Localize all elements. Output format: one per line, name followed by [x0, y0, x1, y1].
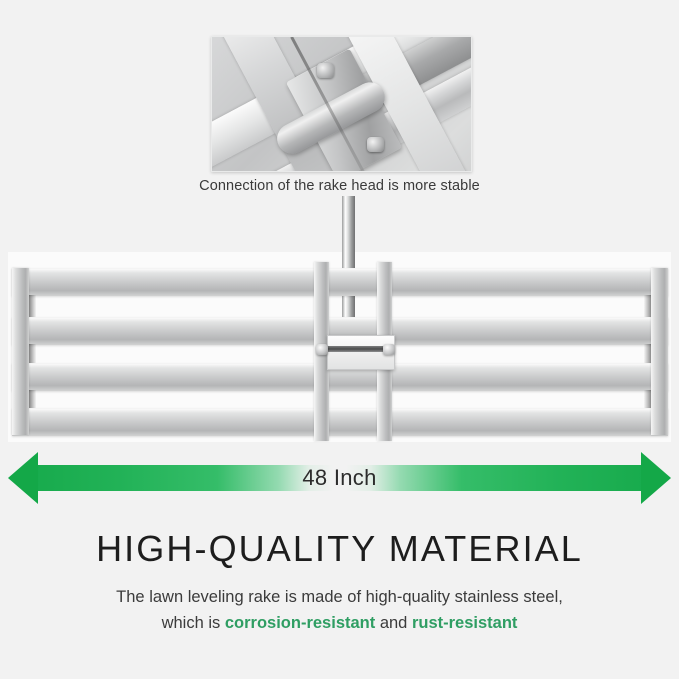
- rail-shadow: [29, 344, 36, 363]
- measurement-label: 48 Inch: [0, 452, 679, 504]
- inset-bolt-head-icon: [317, 63, 334, 78]
- rail-shadow: [644, 390, 651, 408]
- body-line-2-middle: and: [375, 614, 412, 632]
- inset-caption: Connection of the rake head is more stab…: [0, 178, 679, 194]
- inset-bolt-head-icon: [367, 137, 384, 152]
- rail-shadow: [644, 344, 651, 363]
- product-feature-graphic: Connection of the rake head is more stab…: [0, 0, 679, 679]
- rake-end-rail-left: [12, 268, 29, 435]
- rail-shadow: [29, 390, 36, 408]
- measurement-arrow: 48 Inch: [0, 452, 679, 504]
- body-line-2: which is corrosion-resistant and rust-re…: [0, 610, 679, 636]
- page-title: HIGH-QUALITY MATERIAL: [0, 528, 679, 570]
- lawn-leveling-rake: [0, 196, 679, 448]
- rake-end-rail-right: [651, 268, 668, 435]
- rake-bar: [12, 408, 668, 436]
- clamp-bolt-left-icon: [316, 344, 328, 355]
- rake-bar: [12, 268, 668, 296]
- body-line-2-prefix: which is: [162, 614, 225, 632]
- rail-shadow: [644, 295, 651, 317]
- rake-head-connection-closeup: [211, 36, 472, 172]
- body-copy: The lawn leveling rake is made of high-q…: [0, 584, 679, 636]
- clamp-bolt-right-icon: [383, 344, 395, 355]
- highlight-rust-resistant: rust-resistant: [412, 614, 517, 632]
- highlight-corrosion-resistant: corrosion-resistant: [225, 614, 375, 632]
- body-line-1: The lawn leveling rake is made of high-q…: [0, 584, 679, 610]
- rail-shadow: [29, 295, 36, 317]
